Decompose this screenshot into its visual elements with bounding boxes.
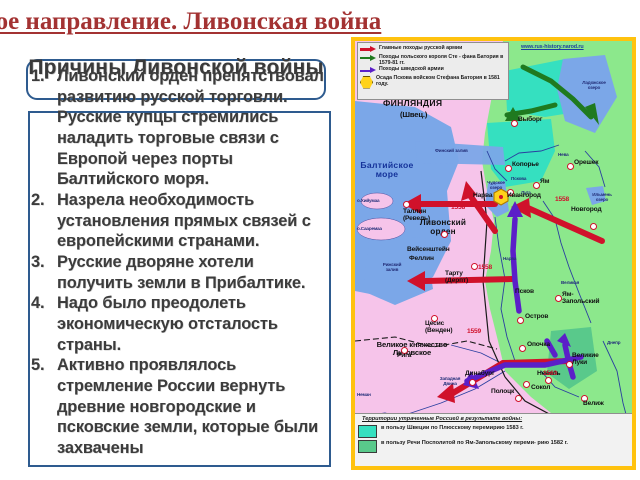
list-item-text: Надо было преодолеть экономическую отста…: [57, 294, 278, 353]
list-item: 1.Ливонский орден препятствовал развитию…: [31, 66, 331, 190]
map-label-finland-sub: (Швец.): [400, 111, 427, 119]
map-label-river-neva: Нева: [558, 153, 569, 158]
map-label-city-velikie-luki: Великие Луки: [572, 353, 606, 367]
city-dot: [533, 182, 540, 189]
map-label-river-pskova: Пскова: [511, 177, 526, 182]
city-dot: [403, 201, 410, 208]
city-dot: [590, 223, 597, 230]
map-label-city-velizh: Велиж: [583, 401, 604, 408]
map-label-city-yam: Ям: [540, 179, 549, 186]
legend-bottom-row: в пользу Швеции по Плюсскому перемирию 1…: [358, 425, 629, 438]
list-item: 3.Русские дворяне хотели получить земли …: [31, 252, 331, 293]
map-label-baltic-sea: Балтийское море: [357, 161, 417, 179]
city-dot: [517, 317, 524, 324]
map-date-1558-narva: 1558: [451, 205, 465, 212]
city-dot: [567, 163, 574, 170]
map-label-city-oreshek: Орешек: [574, 160, 598, 167]
map-date-1563-polotsk: 1563: [543, 371, 557, 378]
map-date-1558-novgorod: 1558: [555, 197, 569, 204]
map-label-city-tallinn: Таллин (Ревель): [403, 209, 447, 223]
swatch-poland-lithuania: [358, 440, 377, 453]
map-label-city-tartu: Тарту (Дерпт): [445, 271, 485, 285]
red-arrow-icon: [360, 46, 376, 53]
map-label-grand-duchy-lithuania: Великое княжество Литовское: [357, 341, 467, 357]
legend-row: Главные походы русской армии: [360, 45, 506, 53]
causes-list: 1.Ливонский орден препятствовал развитию…: [31, 66, 331, 459]
map-label-river-velikaya: Великая: [561, 281, 579, 286]
map-label-island-saaremaa: о.Сааремаа: [357, 227, 382, 232]
list-item-number: 2.: [31, 190, 44, 211]
purple-arrow-icon: [360, 67, 376, 74]
map-label-river-dnepr: Днепр: [607, 341, 620, 346]
map-label-river-zapadnaya-dvina: Западная Двина: [433, 377, 467, 387]
map-label-city-polotsk: Полоцк: [491, 389, 514, 396]
map-label-city-cesis: Цесис (Венден): [425, 321, 467, 335]
list-item: 2.Назрела необходимость установления пря…: [31, 190, 331, 252]
city-dot: [519, 345, 526, 352]
map-label-finland: ФИНЛЯНДИЯ: [383, 99, 442, 108]
list-item-number: 3.: [31, 252, 44, 273]
map-label-lake-ilmen: Ильмень озеро: [588, 193, 616, 203]
map-label-city-pskov: Псков: [515, 289, 534, 296]
map-label-city-riga: Рига: [397, 353, 411, 360]
city-dot: [523, 381, 530, 388]
map-legend-bottom: Территории утраченные Россией в результа…: [355, 413, 632, 466]
map-label-lake-ladoga: Ладожское озеро: [577, 81, 611, 91]
legend-row: Осада Пскова войском Стефана Батория в 1…: [360, 75, 506, 89]
legend-bottom-label: в пользу Швеции по Плюсскому перемирию 1…: [381, 425, 524, 432]
city-dot: [555, 295, 562, 302]
map-label-city-yam-zapolsky: Ям-Запольский: [562, 292, 606, 306]
list-item-number: 4.: [31, 293, 44, 314]
list-item-text: Ливонский орден препятствовал развитию р…: [57, 67, 324, 188]
legend-row: Походы шведской армии: [360, 66, 506, 74]
legend-bottom-row: в пользу Речи Посполитой по Ям-Запольско…: [358, 440, 629, 453]
map-label-city-fellin: Феллин: [409, 256, 434, 263]
legend-label: Осада Пскова войском Стефана Батория в 1…: [376, 75, 506, 87]
city-dot: [471, 263, 478, 270]
swatch-sweden: [358, 425, 377, 438]
map-date-1559-riga: 1559: [467, 329, 481, 336]
list-item-text: Активно проявлялось стремление России ве…: [57, 356, 318, 457]
map-label-city-ivangorod: Ивангород: [507, 193, 541, 200]
legend-label: Главные походы русской армии: [379, 45, 462, 51]
yellow-hexagon-icon: [360, 76, 373, 89]
city-dot: [515, 395, 522, 402]
map-label-city-koporye: Копорье: [512, 162, 539, 169]
legend-bottom-label: в пользу Речи Посполитой по Ям-Запольско…: [381, 440, 568, 447]
city-dot: [505, 165, 512, 172]
watermark-url: www.rus-history.narod.ru: [521, 44, 584, 50]
list-item-text: Назрела необходимость установления прямы…: [57, 191, 311, 250]
map-label-gulf-of-finland: Финский залив: [435, 149, 468, 154]
map-label-city-novgorod: Новгород: [571, 207, 601, 214]
city-dot: [469, 379, 476, 386]
map-label-city-opochka: Опочка: [527, 342, 550, 349]
map-label-city-ostrov: Остров: [525, 314, 548, 321]
map-label-city-weissenstein: Вейсенштейн: [407, 247, 450, 254]
list-item: 4.Надо было преодолеть экономическую отс…: [31, 293, 331, 355]
city-dot: [441, 231, 448, 238]
page-title: ладное направление. Ливонская война: [0, 8, 372, 36]
map-date-1558-tartu: 1558: [478, 265, 492, 272]
map-legend: Главные походы русской армии Походы поль…: [357, 42, 509, 100]
map-label-lake-peipus: Чудское озеро: [483, 181, 509, 191]
list-item-text: Русские дворяне хотели получить земли в …: [57, 253, 305, 292]
list-item-number: 1.: [31, 66, 44, 87]
map-label-river-narva: Нарва: [503, 257, 516, 262]
map-label-river-neman: Неман: [357, 393, 371, 398]
map-label-island-hiiumaa: о.Хийумаа: [357, 199, 379, 204]
city-dot: [545, 377, 552, 384]
map-label-gulf-of-riga: Рижский залив: [377, 263, 407, 273]
map-label-city-vyborg: Выборг: [518, 117, 542, 124]
historical-map-image: Главные походы русской армии Походы поль…: [351, 37, 636, 470]
city-dot: [511, 120, 518, 127]
map-label-city-dinaburg: Динабург: [465, 371, 495, 378]
legend-row: Походы польского короля Сте - фана Батор…: [360, 54, 506, 66]
legend-label: Походы шведской армии: [379, 66, 444, 72]
map-label-city-sokol: Сокол: [531, 385, 550, 392]
green-arrow-icon: [360, 55, 376, 62]
legend-label: Походы польского короля Сте - фана Батор…: [379, 54, 506, 66]
list-item-number: 5.: [31, 355, 44, 376]
map-label-city-narva: Нарва: [473, 193, 492, 200]
legend-bottom-title: Территории утраченные Россией в результа…: [358, 416, 629, 422]
list-item: 5.Активно проявлялось стремление России …: [31, 355, 331, 458]
